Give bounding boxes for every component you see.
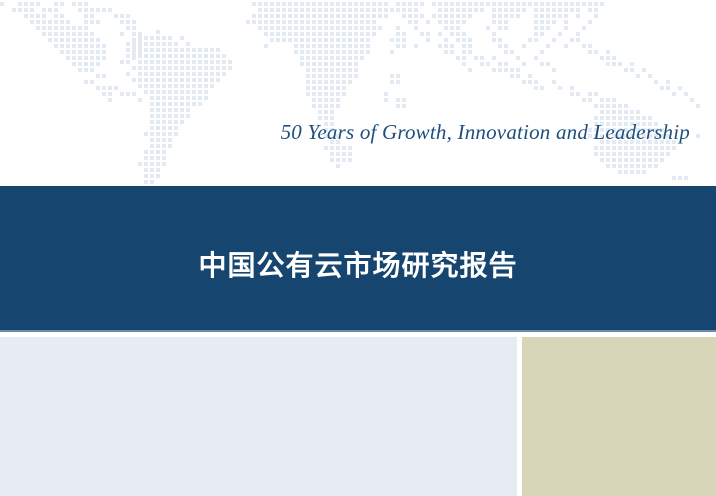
- page-title: 中国公有云市场研究报告: [0, 249, 716, 283]
- footer-block-left: [0, 337, 517, 496]
- presentation-cover-slide: 50 Years of Growth, Innovation and Leade…: [0, 0, 716, 496]
- header-band: 50 Years of Growth, Innovation and Leade…: [0, 0, 716, 186]
- footer-block-right: [522, 337, 716, 496]
- world-map-dots-icon: [0, 0, 716, 186]
- company-tagline: 50 Years of Growth, Innovation and Leade…: [0, 120, 690, 145]
- title-band-underline: [0, 330, 716, 332]
